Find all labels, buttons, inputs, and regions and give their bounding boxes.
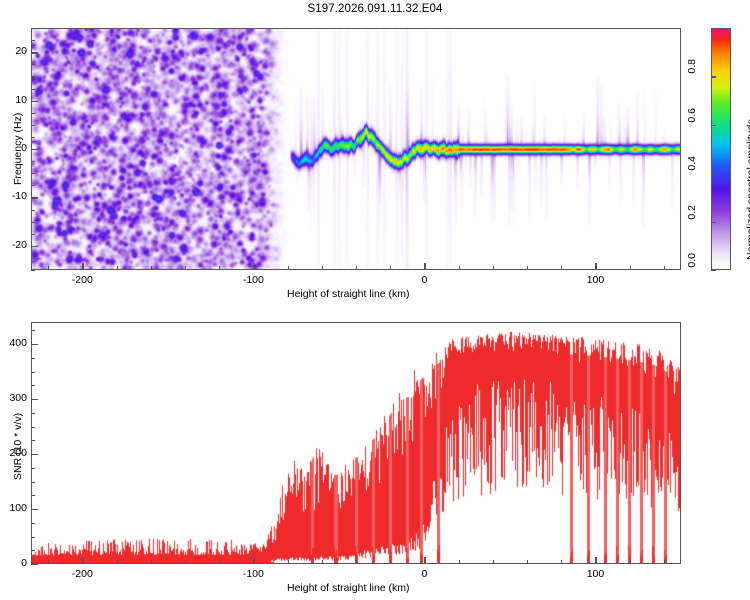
x-tick-major xyxy=(253,263,254,270)
x-tick-label: 0 xyxy=(410,274,438,286)
y-tick-minor xyxy=(31,258,35,259)
figure-title: S197.2026.091.11.32.E04 xyxy=(0,3,750,15)
y-tick-label: -10 xyxy=(0,190,27,202)
spectrogram-yaxis-label: Frequency (Hz) xyxy=(12,113,24,185)
colorbar-tick xyxy=(711,125,716,126)
x-tick-minor xyxy=(493,560,494,564)
x-tick-label: -100 xyxy=(239,274,267,286)
y-tick-major xyxy=(31,149,38,150)
y-tick-minor xyxy=(31,523,35,524)
x-tick-minor xyxy=(185,266,186,270)
x-tick-major xyxy=(424,557,425,564)
y-tick-minor xyxy=(31,372,35,373)
x-tick-minor xyxy=(493,266,494,270)
y-tick-minor xyxy=(31,385,35,386)
y-tick-label: 100 xyxy=(0,502,27,514)
x-tick-minor xyxy=(356,560,357,564)
colorbar-tick xyxy=(711,222,716,223)
x-tick-minor xyxy=(459,560,460,564)
x-tick-label: 100 xyxy=(581,568,609,580)
x-tick-major xyxy=(595,263,596,270)
figure-root: S197.2026.091.11.32.E04 -200-1000100-20-… xyxy=(0,0,750,600)
x-tick-minor xyxy=(48,266,49,270)
colorbar-tick-label: 0.8 xyxy=(686,59,698,89)
x-tick-minor xyxy=(390,560,391,564)
y-tick-minor xyxy=(31,173,35,174)
y-tick-major xyxy=(31,399,38,400)
snr-canvas xyxy=(32,323,680,563)
colorbar-tick-label: 0.2 xyxy=(686,205,698,235)
x-tick-minor xyxy=(219,266,220,270)
y-tick-major xyxy=(31,564,38,565)
y-tick-major xyxy=(31,246,38,247)
x-tick-minor xyxy=(459,266,460,270)
y-tick-minor xyxy=(31,161,35,162)
x-tick-minor xyxy=(288,560,289,564)
x-tick-label: 100 xyxy=(581,274,609,286)
y-tick-label: 400 xyxy=(0,337,27,349)
x-tick-minor xyxy=(561,266,562,270)
y-tick-minor xyxy=(31,550,35,551)
y-tick-minor xyxy=(31,113,35,114)
x-tick-minor xyxy=(117,266,118,270)
x-tick-major xyxy=(82,263,83,270)
y-tick-minor xyxy=(31,89,35,90)
y-tick-minor xyxy=(31,468,35,469)
x-tick-minor xyxy=(664,560,665,564)
snr-yaxis-label: SNR (10 * v/v) xyxy=(12,413,24,480)
x-tick-minor xyxy=(630,560,631,564)
colorbar-tick-label: 0.4 xyxy=(686,156,698,186)
x-tick-minor xyxy=(288,266,289,270)
x-tick-label: -200 xyxy=(68,274,96,286)
y-tick-major xyxy=(31,509,38,510)
y-tick-minor xyxy=(31,270,35,271)
x-tick-minor xyxy=(185,560,186,564)
x-tick-major xyxy=(82,557,83,564)
y-tick-minor xyxy=(31,137,35,138)
x-tick-minor xyxy=(527,266,528,270)
colorbar-tick xyxy=(711,270,716,271)
colorbar-tick-label: 0.0 xyxy=(686,253,698,283)
x-tick-minor xyxy=(117,560,118,564)
x-tick-major xyxy=(424,263,425,270)
y-tick-minor xyxy=(31,413,35,414)
y-tick-minor xyxy=(31,440,35,441)
y-tick-minor xyxy=(31,358,35,359)
spectrogram-plot-area xyxy=(31,28,681,270)
y-tick-minor xyxy=(31,210,35,211)
x-tick-major xyxy=(595,557,596,564)
x-tick-minor xyxy=(219,560,220,564)
y-tick-minor xyxy=(31,234,35,235)
spectrogram-xaxis-label: Height of straight line (km) xyxy=(287,288,410,300)
snr-xaxis-label: Height of straight line (km) xyxy=(287,582,410,594)
y-tick-minor xyxy=(31,482,35,483)
x-tick-label: -200 xyxy=(68,568,96,580)
y-tick-label: -20 xyxy=(0,239,27,251)
colorbar-label: Normalized spectral amplitude xyxy=(745,119,750,260)
x-tick-minor xyxy=(48,560,49,564)
x-tick-minor xyxy=(151,266,152,270)
x-tick-label: 0 xyxy=(410,568,438,580)
y-tick-minor xyxy=(31,185,35,186)
y-tick-minor xyxy=(31,222,35,223)
y-tick-minor xyxy=(31,495,35,496)
y-tick-minor xyxy=(31,64,35,65)
y-tick-label: 20 xyxy=(0,45,27,57)
y-tick-minor xyxy=(31,125,35,126)
x-tick-major xyxy=(253,557,254,564)
colorbar-tick xyxy=(711,173,716,174)
y-tick-minor xyxy=(31,330,35,331)
y-tick-major xyxy=(31,101,38,102)
x-tick-minor xyxy=(356,266,357,270)
colorbar-gradient xyxy=(712,29,730,269)
y-tick-minor xyxy=(31,537,35,538)
x-tick-minor xyxy=(527,560,528,564)
y-tick-label: 300 xyxy=(0,392,27,404)
y-tick-major xyxy=(31,52,38,53)
x-tick-minor xyxy=(322,266,323,270)
y-tick-minor xyxy=(31,28,35,29)
y-tick-minor xyxy=(31,427,35,428)
x-tick-minor xyxy=(664,266,665,270)
y-tick-minor xyxy=(31,40,35,41)
colorbar-tick xyxy=(711,76,716,77)
y-tick-major xyxy=(31,344,38,345)
snr-plot-area xyxy=(31,322,681,564)
y-tick-major xyxy=(31,197,38,198)
x-tick-minor xyxy=(322,560,323,564)
y-tick-label: 0 xyxy=(0,557,27,569)
x-tick-minor xyxy=(390,266,391,270)
x-tick-label: -100 xyxy=(239,568,267,580)
x-tick-minor xyxy=(630,266,631,270)
y-tick-minor xyxy=(31,76,35,77)
x-tick-minor xyxy=(151,560,152,564)
x-tick-minor xyxy=(561,560,562,564)
colorbar xyxy=(711,28,731,270)
y-tick-label: 10 xyxy=(0,94,27,106)
y-tick-major xyxy=(31,454,38,455)
colorbar-tick-label: 0.6 xyxy=(686,108,698,138)
spectrogram-canvas xyxy=(32,29,680,269)
